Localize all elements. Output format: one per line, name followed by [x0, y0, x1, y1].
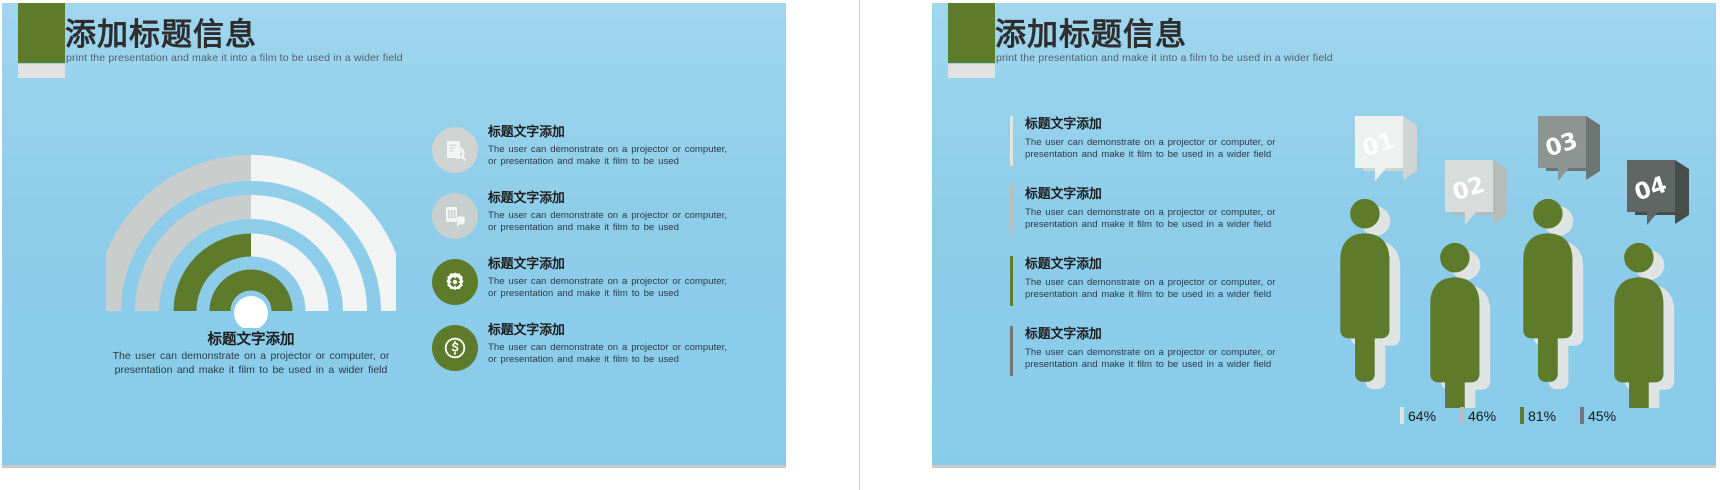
list-item-body: The user can demonstrate on a projector … [1025, 137, 1315, 161]
page-subtitle: print the presentation and make it into … [66, 52, 403, 64]
header-green-block [18, 3, 65, 63]
accent-bar [1010, 116, 1013, 166]
stat-value: 64% [1408, 408, 1436, 424]
page-title: 添加标题信息 [995, 9, 1187, 54]
gear-settings-icon [432, 259, 478, 305]
list-item-title: 标题文字添加 [1025, 323, 1315, 342]
header-gray-block [18, 64, 65, 78]
feature-block-list: 标题文字添加 The user can demonstrate on a pro… [1010, 113, 1315, 393]
percentage-row: 64% 46% 81% 45% [1400, 407, 1710, 424]
list-item-title: 标题文字添加 [488, 319, 738, 338]
wifi-caption-title: 标题文字添加 [106, 328, 396, 349]
people-infographic: 01 02 [1327, 98, 1712, 408]
list-item-title: 标题文字添加 [488, 121, 738, 140]
page-title: 添加标题信息 [65, 9, 257, 54]
stat-value: 46% [1468, 408, 1496, 424]
list-item-title: 标题文字添加 [1025, 253, 1315, 272]
person-04 [1614, 243, 1674, 408]
stat-02: 46% [1460, 407, 1520, 424]
page-subtitle: print the presentation and make it into … [996, 52, 1333, 64]
wifi-center-dot [234, 296, 268, 328]
slide-gutter-divider [786, 0, 932, 490]
badge-04: 04 [1627, 160, 1689, 225]
list-item-body: The user can demonstrate on a projector … [488, 342, 738, 366]
list-item-body: The user can demonstrate on a projector … [1025, 277, 1315, 301]
person-02 [1430, 243, 1490, 408]
wifi-caption-body: The user can demonstrate on a projector … [98, 350, 404, 377]
list-item[interactable]: 标题文字添加 The user can demonstrate on a pro… [432, 187, 732, 253]
list-item-title: 标题文字添加 [488, 187, 738, 206]
slide-left: 添加标题信息 print the presentation and make i… [2, 3, 786, 468]
list-item-title: 标题文字添加 [1025, 183, 1315, 202]
badge-03: 03 [1538, 116, 1600, 181]
slide-pair-canvas: 添加标题信息 print the presentation and make i… [0, 0, 1720, 490]
stat-bar [1460, 407, 1464, 424]
person-03 [1523, 199, 1583, 389]
list-item-body: The user can demonstrate on a projector … [488, 276, 738, 300]
stat-value: 81% [1528, 408, 1556, 424]
person-01 [1340, 199, 1400, 389]
accent-bar [1010, 186, 1013, 236]
stat-bar [1520, 407, 1524, 424]
document-search-icon [432, 127, 478, 173]
stat-03: 81% [1520, 407, 1580, 424]
list-item-title: 标题文字添加 [1025, 113, 1315, 132]
list-item[interactable]: 标题文字添加 The user can demonstrate on a pro… [1010, 323, 1315, 371]
list-item-title: 标题文字添加 [488, 253, 738, 272]
stat-01: 64% [1400, 407, 1460, 424]
header-gray-block [948, 64, 995, 78]
list-item-text: 标题文字添加 The user can demonstrate on a pro… [488, 253, 738, 300]
stat-04: 45% [1580, 407, 1640, 424]
accent-bar [1010, 326, 1013, 376]
accent-bar [1010, 256, 1013, 306]
badge-02: 02 [1445, 160, 1507, 225]
feature-list: 标题文字添加 The user can demonstrate on a pro… [432, 121, 732, 385]
list-item-body: The user can demonstrate on a projector … [1025, 347, 1315, 371]
stat-bar [1400, 407, 1404, 424]
badge-01: 01 [1355, 116, 1417, 181]
list-item[interactable]: 标题文字添加 The user can demonstrate on a pro… [1010, 253, 1315, 301]
slide-bottom-divider [932, 465, 1716, 468]
list-item[interactable]: 标题文字添加 The user can demonstrate on a pro… [1010, 113, 1315, 161]
list-item[interactable]: 标题文字添加 The user can demonstrate on a pro… [432, 253, 732, 319]
list-item-text: 标题文字添加 The user can demonstrate on a pro… [488, 319, 738, 366]
list-item[interactable]: 标题文字添加 The user can demonstrate on a pro… [1010, 183, 1315, 231]
stat-bar [1580, 407, 1584, 424]
money-clock-icon [432, 325, 478, 371]
wifi-signal-graphic [106, 113, 396, 328]
list-item-body: The user can demonstrate on a projector … [488, 210, 738, 234]
list-item-body: The user can demonstrate on a projector … [488, 144, 738, 168]
header-green-block [948, 3, 995, 63]
presentation-board-icon [432, 193, 478, 239]
list-item-body: The user can demonstrate on a projector … [1025, 207, 1315, 231]
slide-bottom-divider [2, 465, 786, 468]
list-item[interactable]: 标题文字添加 The user can demonstrate on a pro… [432, 121, 732, 187]
list-item[interactable]: 标题文字添加 The user can demonstrate on a pro… [432, 319, 732, 385]
list-item-text: 标题文字添加 The user can demonstrate on a pro… [488, 121, 738, 168]
slide-right: 添加标题信息 print the presentation and make i… [932, 3, 1716, 468]
list-item-text: 标题文字添加 The user can demonstrate on a pro… [488, 187, 738, 234]
stat-value: 45% [1588, 408, 1616, 424]
